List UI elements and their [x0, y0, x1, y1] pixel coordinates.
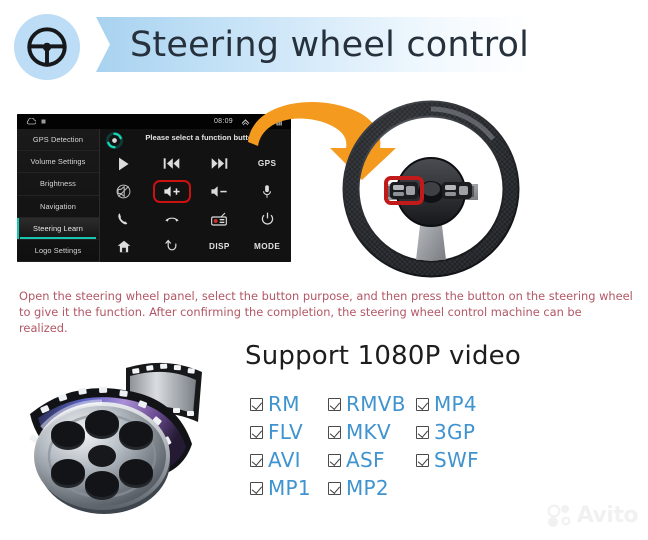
- format-label: MP1: [268, 476, 311, 500]
- mute-button[interactable]: [100, 178, 148, 206]
- cloud-icon: [26, 118, 36, 125]
- avito-watermark: Avito: [547, 503, 638, 528]
- checkbox-icon[interactable]: [328, 398, 341, 411]
- format-item-mp4[interactable]: MP4: [416, 392, 516, 416]
- sidebar-item-steering-learn[interactable]: Steering Learn: [17, 218, 99, 240]
- prev-track-icon: [163, 157, 180, 170]
- call-button[interactable]: [100, 205, 148, 233]
- checkbox-icon[interactable]: [250, 398, 263, 411]
- sidebar-label: Logo Settings: [35, 246, 82, 255]
- hangup-button[interactable]: [148, 205, 196, 233]
- steering-wheel-icon: [14, 14, 80, 80]
- checkbox-icon[interactable]: [328, 454, 341, 467]
- dot-icon: [41, 119, 46, 124]
- mode-button[interactable]: MODE: [243, 233, 291, 261]
- format-label: MKV: [346, 420, 391, 444]
- sidebar-item-brightness[interactable]: Brightness: [17, 173, 99, 195]
- format-item-mp2[interactable]: MP2: [328, 476, 416, 500]
- page-header: Steering wheel control: [0, 0, 648, 92]
- back-button[interactable]: [148, 233, 196, 261]
- format-label: RM: [268, 392, 300, 416]
- disp-label: DISP: [209, 242, 230, 251]
- checkbox-icon[interactable]: [250, 426, 263, 439]
- right-button-cluster: [442, 182, 472, 199]
- sidebar-item-volume-settings[interactable]: Volume Settings: [17, 151, 99, 173]
- page-title: Steering wheel control: [130, 25, 529, 65]
- description-text: Open the steering wheel panel, select th…: [19, 288, 633, 336]
- sidebar-label: Navigation: [40, 202, 76, 211]
- back-arrow-icon: [165, 239, 179, 253]
- format-item-rm[interactable]: RM: [250, 392, 328, 416]
- supported-formats-grid: RM RMVB MP4 FLV MKV 3GP AVI ASF: [250, 390, 535, 502]
- mute-icon: [116, 184, 131, 199]
- volume-down-button[interactable]: [196, 178, 244, 206]
- next-track-icon: [211, 157, 228, 170]
- volume-up-button[interactable]: [148, 178, 196, 206]
- checkbox-icon[interactable]: [416, 398, 429, 411]
- format-label: SWF: [434, 448, 479, 472]
- home-icon: [117, 240, 131, 253]
- film-reel-graphic: [22, 356, 240, 518]
- format-label: MP2: [346, 476, 389, 500]
- watermark-text: Avito: [577, 503, 638, 528]
- previous-button[interactable]: [148, 150, 196, 178]
- sidebar-label: GPS Detection: [33, 135, 83, 144]
- format-item-rmvb[interactable]: RMVB: [328, 392, 416, 416]
- volume-down-icon: [210, 185, 228, 198]
- promo-page: Steering wheel control 08:09: [0, 0, 648, 540]
- hangup-icon: [164, 213, 180, 225]
- checkbox-icon[interactable]: [328, 482, 341, 495]
- format-label: FLV: [268, 420, 303, 444]
- format-item-flv[interactable]: FLV: [250, 420, 328, 444]
- steering-wheel-photo: [336, 98, 526, 280]
- format-item-avi[interactable]: AVI: [250, 448, 328, 472]
- play-button[interactable]: [100, 150, 148, 178]
- format-label: RMVB: [346, 392, 406, 416]
- checkbox-icon[interactable]: [250, 454, 263, 467]
- radio-icon: [211, 212, 227, 226]
- settings-sidebar: GPS Detection Volume Settings Brightness…: [17, 129, 100, 262]
- format-label: ASF: [346, 448, 385, 472]
- checkbox-icon[interactable]: [328, 426, 341, 439]
- status-left-icons: [26, 118, 46, 125]
- play-icon: [117, 157, 130, 171]
- next-button[interactable]: [196, 150, 244, 178]
- radio-button[interactable]: [196, 205, 244, 233]
- status-clock: 08:09: [214, 118, 233, 125]
- disp-button[interactable]: DISP: [196, 233, 244, 261]
- sidebar-label: Steering Learn: [33, 224, 83, 233]
- format-label: AVI: [268, 448, 301, 472]
- sidebar-item-gps-detection[interactable]: GPS Detection: [17, 129, 99, 151]
- checkbox-icon[interactable]: [250, 482, 263, 495]
- format-label: MP4: [434, 392, 477, 416]
- power-button[interactable]: [243, 205, 291, 233]
- avito-logo-icon: [547, 504, 573, 528]
- sidebar-label: Brightness: [40, 179, 76, 188]
- mode-label: MODE: [254, 242, 280, 251]
- title-banner: Steering wheel control: [96, 17, 532, 72]
- phone-icon: [117, 212, 130, 226]
- format-item-mkv[interactable]: MKV: [328, 420, 416, 444]
- sidebar-label: Volume Settings: [31, 157, 86, 166]
- power-icon: [261, 212, 274, 226]
- volume-up-icon: [163, 185, 181, 198]
- format-item-3gp[interactable]: 3GP: [416, 420, 516, 444]
- format-item-mp1[interactable]: MP1: [250, 476, 328, 500]
- sidebar-item-navigation[interactable]: Navigation: [17, 196, 99, 218]
- home-button[interactable]: [100, 233, 148, 261]
- format-item-asf[interactable]: ASF: [328, 448, 416, 472]
- checkbox-icon[interactable]: [416, 426, 429, 439]
- support-title: Support 1080P video: [245, 341, 521, 371]
- format-item-swf[interactable]: SWF: [416, 448, 516, 472]
- checkbox-icon[interactable]: [416, 454, 429, 467]
- sidebar-item-logo-settings[interactable]: Logo Settings: [17, 240, 99, 262]
- format-label: 3GP: [434, 420, 475, 444]
